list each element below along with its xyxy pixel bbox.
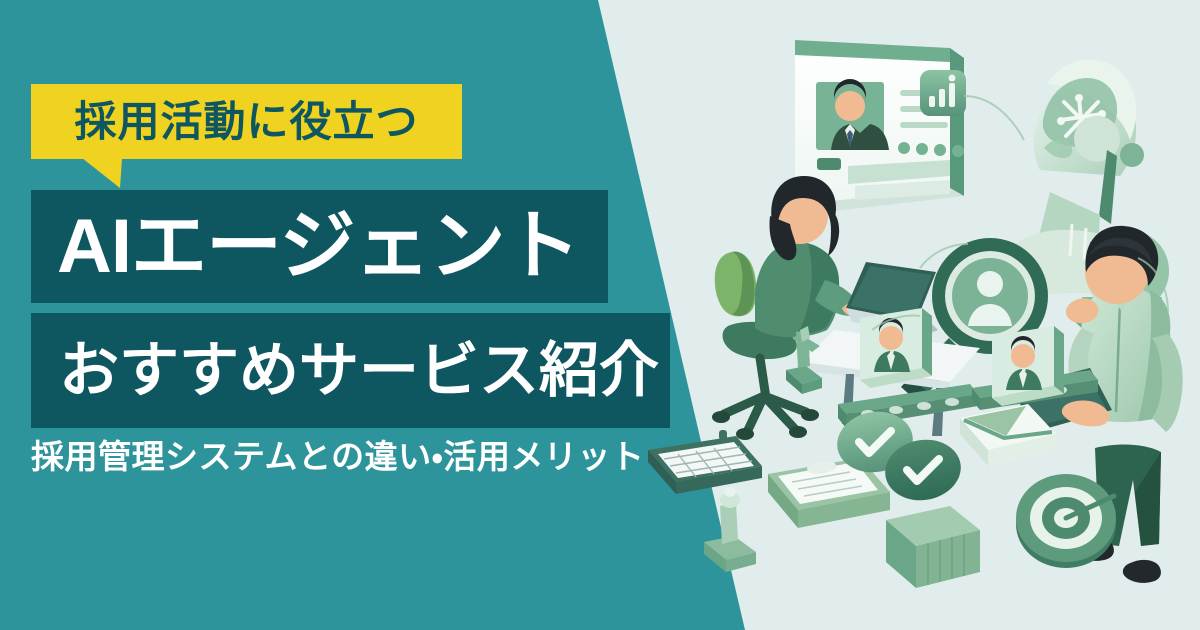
hero-illustration xyxy=(620,0,1200,630)
person-card-1 xyxy=(860,308,932,388)
banner-image: 採用活動に役立つ AIエージェント おすすめサービス紹介 採用管理システムとの違… xyxy=(0,0,1200,630)
candidate-photo xyxy=(816,79,889,150)
eyebrow-speech-bubble: 採用活動に役立つ xyxy=(31,84,462,159)
person-card-2 xyxy=(992,326,1064,406)
title-sub-text: おすすめサービス紹介 xyxy=(59,341,659,401)
speech-bubble-tail xyxy=(82,158,122,188)
box-icon xyxy=(886,506,980,588)
title-sub-band: おすすめサービス紹介 xyxy=(31,313,670,428)
target-dartboard xyxy=(1016,474,1116,568)
trophy-pin xyxy=(704,487,756,572)
title-main-text: AIエージェント xyxy=(57,209,579,285)
bar-chart-badge xyxy=(920,70,966,116)
title-main-band: AIエージェント xyxy=(31,190,608,303)
headline-block: 採用活動に役立つ AIエージェント おすすめサービス紹介 採用管理システムとの違… xyxy=(0,0,700,630)
eyebrow-label: 採用活動に役立つ xyxy=(31,84,462,159)
profile-button xyxy=(817,158,841,170)
subtitle-text: 採用管理システムとの違い・活用メリット xyxy=(31,440,644,473)
illustration-svg xyxy=(620,0,1200,630)
chair-base xyxy=(724,396,806,430)
